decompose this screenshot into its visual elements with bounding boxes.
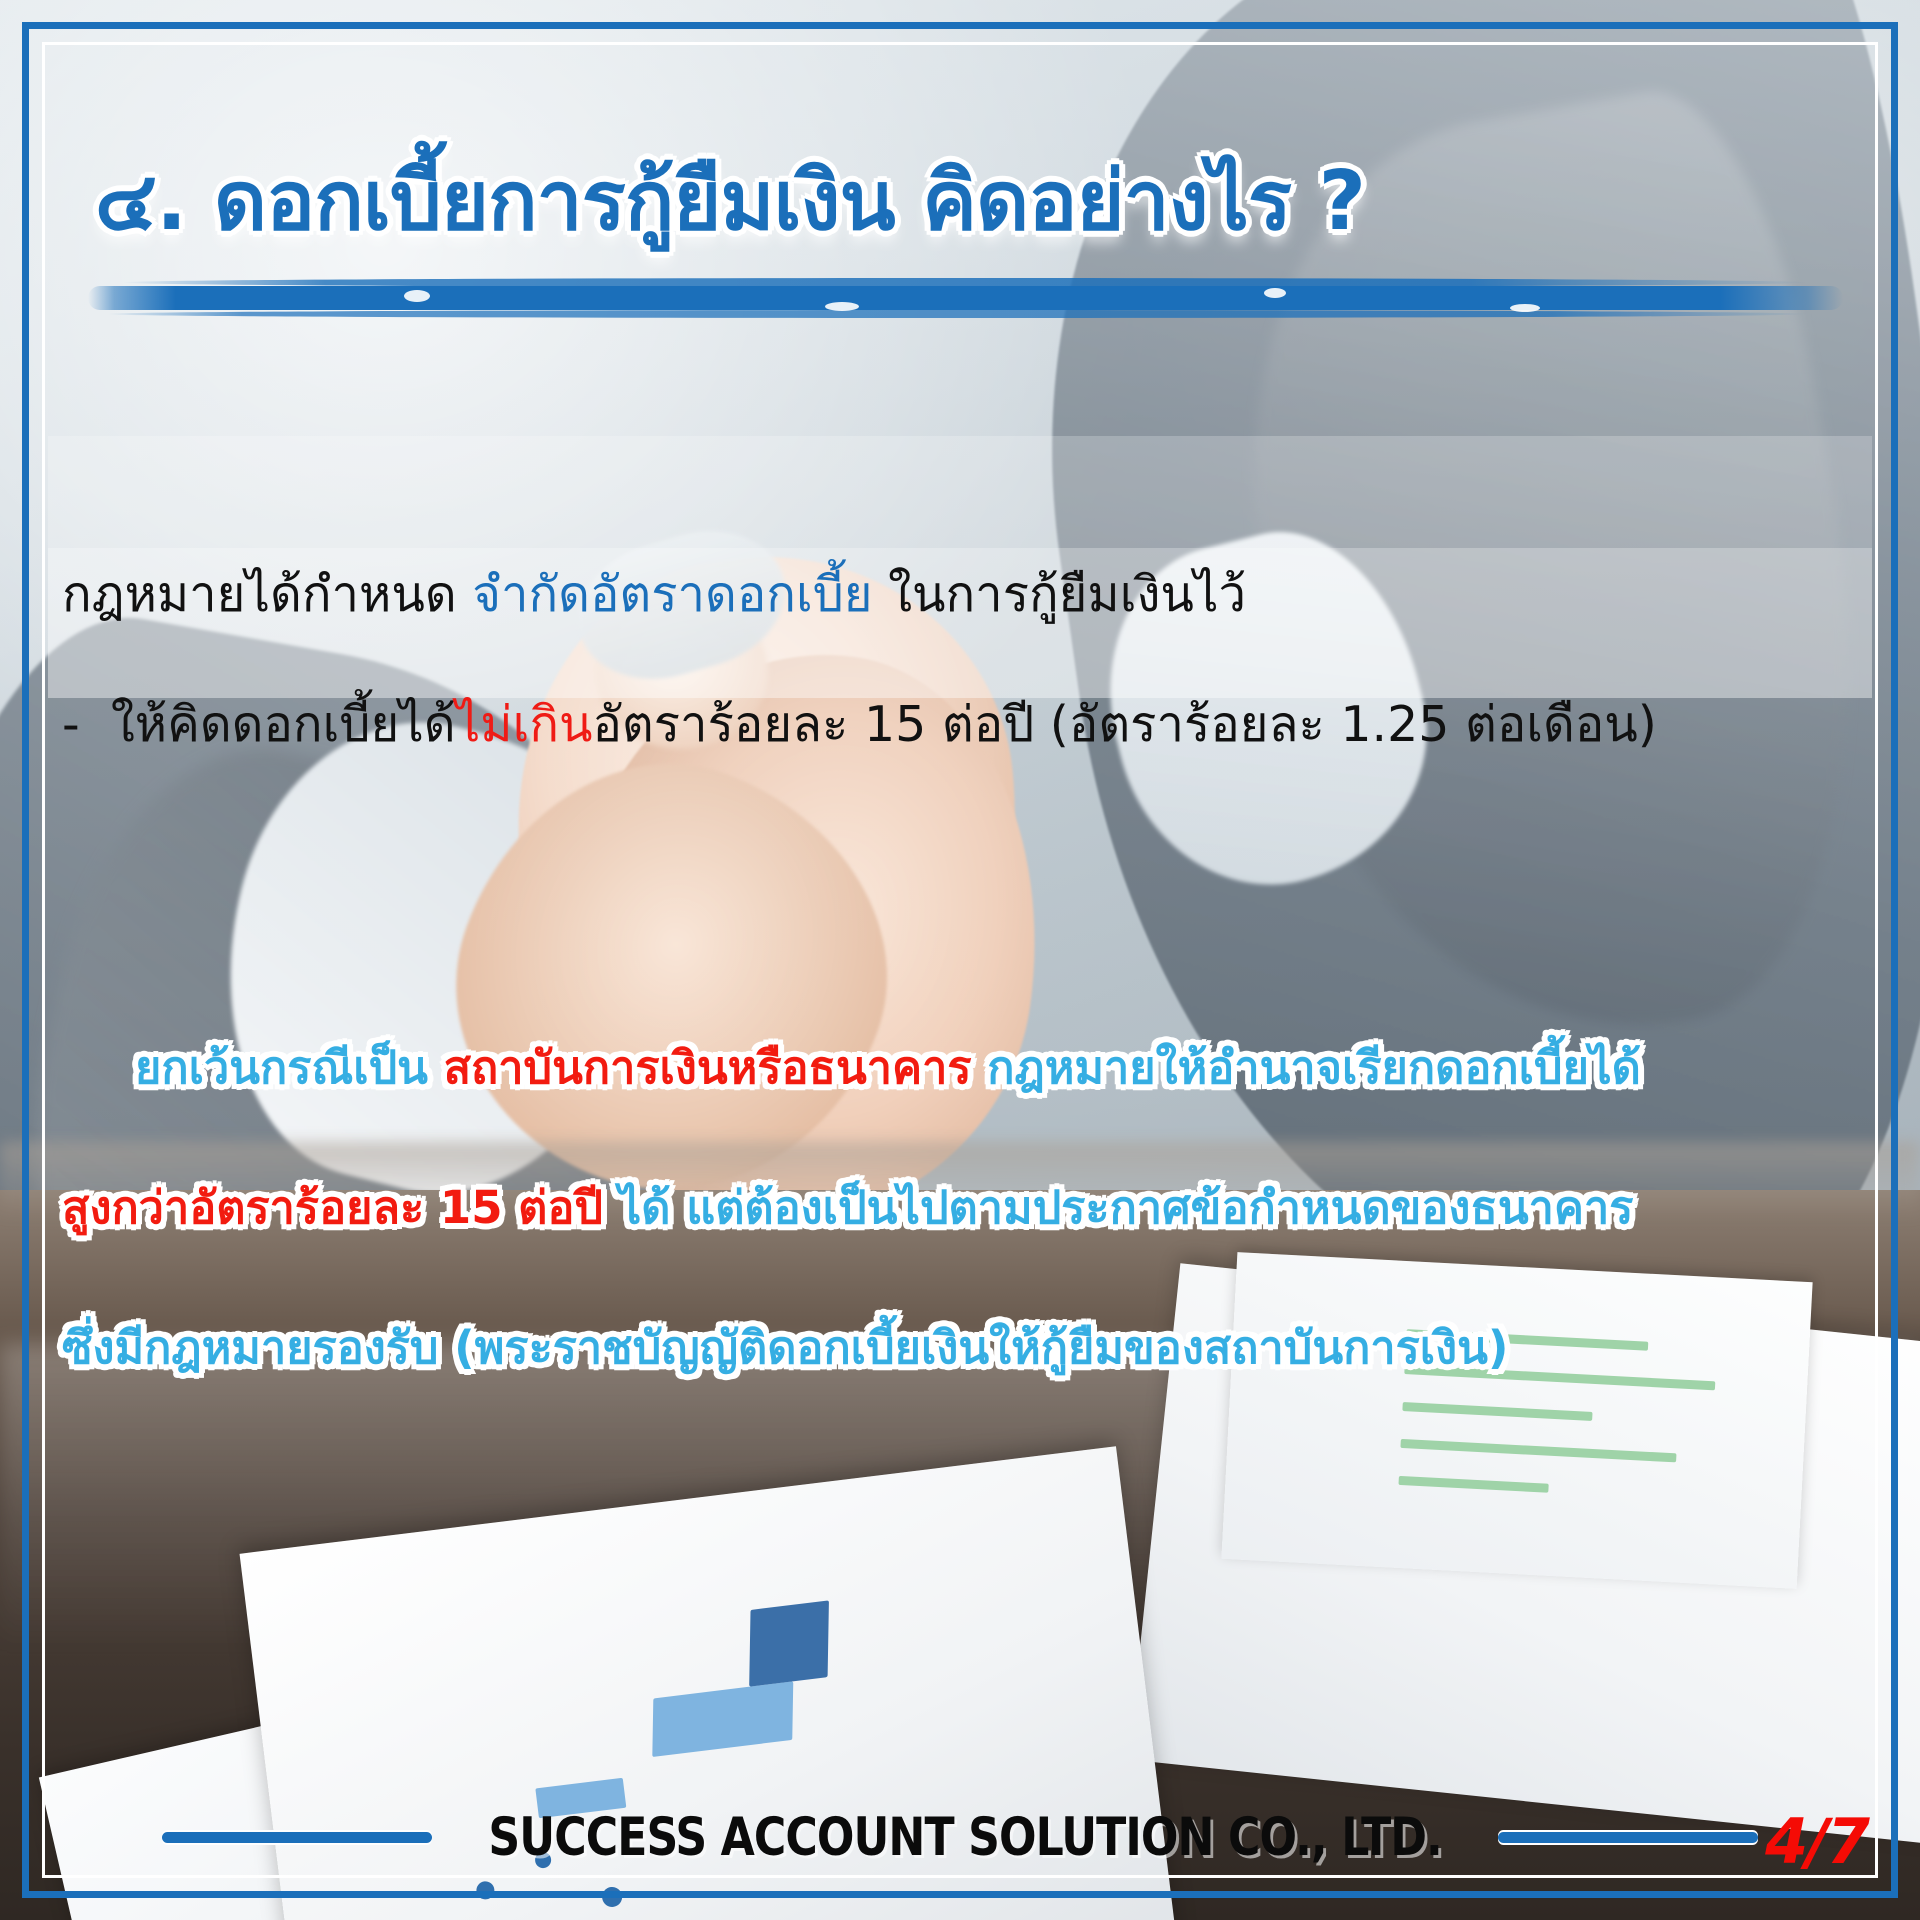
title-brush-underline: [88, 272, 1843, 334]
body-line-1-part-c: ในการกู้ยืมเงินไว้: [873, 566, 1247, 623]
footer-rule-left: [162, 1832, 432, 1843]
note-line-2-part-b: ได้ แต่ต้องเป็นไปตามประกาศข้อกำหนดของธนา…: [603, 1181, 1633, 1234]
body-line-1-part-a: กฎหมายได้กำหนด: [62, 566, 472, 623]
body-line-2-bullet: -: [62, 696, 80, 753]
body-line-1-highlight: จำกัดอัตราดอกเบี้ย: [472, 566, 872, 623]
footer-company-name: SUCCESS ACCOUNT SOLUTION CO., LTD.: [488, 1806, 1441, 1868]
note-line-1-part-c: กฎหมายให้อำนาจเรียกดอกเบี้ยได้: [972, 1041, 1641, 1094]
page-title: ๔. ดอกเบี้ยการกู้ยืมเงิน คิดอย่างไร ?: [95, 158, 1795, 247]
slide-canvas: ๔. ดอกเบี้ยการกู้ยืมเงิน คิดอย่างไร ? กฎ…: [0, 0, 1920, 1920]
page-number: 4/7: [1765, 1805, 1868, 1878]
body-line-2-part-c: อัตราร้อยละ 15 ต่อปี (อัตราร้อยละ 1.25 ต…: [592, 696, 1656, 753]
body-line-2: - ให้คิดดอกเบี้ยได้ไม่เกินอัตราร้อยละ 15…: [62, 700, 1657, 749]
footer-rule-right: [1498, 1832, 1758, 1843]
body-line-2-highlight: ไม่เกิน: [456, 696, 593, 753]
note-line-1: ยกเว้นกรณีเป็น สถาบันการเงินหรือธนาคาร ก…: [135, 1045, 1641, 1090]
body-line-2-part-a: ให้คิดดอกเบี้ยได้: [111, 696, 456, 753]
note-line-2: สูงกว่าอัตราร้อยละ 15 ต่อปี ได้ แต่ต้องเ…: [62, 1185, 1633, 1230]
photo-document-right-front: [1221, 1252, 1812, 1589]
note-line-1-part-a: ยกเว้นกรณีเป็น: [135, 1041, 444, 1094]
body-backdrop-upper: [48, 436, 1872, 548]
note-line-1-highlight: สถาบันการเงินหรือธนาคาร: [444, 1041, 972, 1094]
note-line-2-highlight: สูงกว่าอัตราร้อยละ 15 ต่อปี: [62, 1181, 603, 1234]
page-title-container: ๔. ดอกเบี้ยการกู้ยืมเงิน คิดอย่างไร ?: [95, 158, 1795, 247]
note-line-3-part-a: ซึ่งมีกฎหมายรองรับ (พระราชบัญญัติดอกเบี้…: [62, 1321, 1508, 1374]
footer-bar: SUCCESS ACCOUNT SOLUTION CO., LTD.: [0, 1802, 1920, 1872]
body-line-1: กฎหมายได้กำหนด จำกัดอัตราดอกเบี้ย ในการก…: [62, 570, 1246, 619]
note-line-3: ซึ่งมีกฎหมายรองรับ (พระราชบัญญัติดอกเบี้…: [62, 1325, 1508, 1370]
